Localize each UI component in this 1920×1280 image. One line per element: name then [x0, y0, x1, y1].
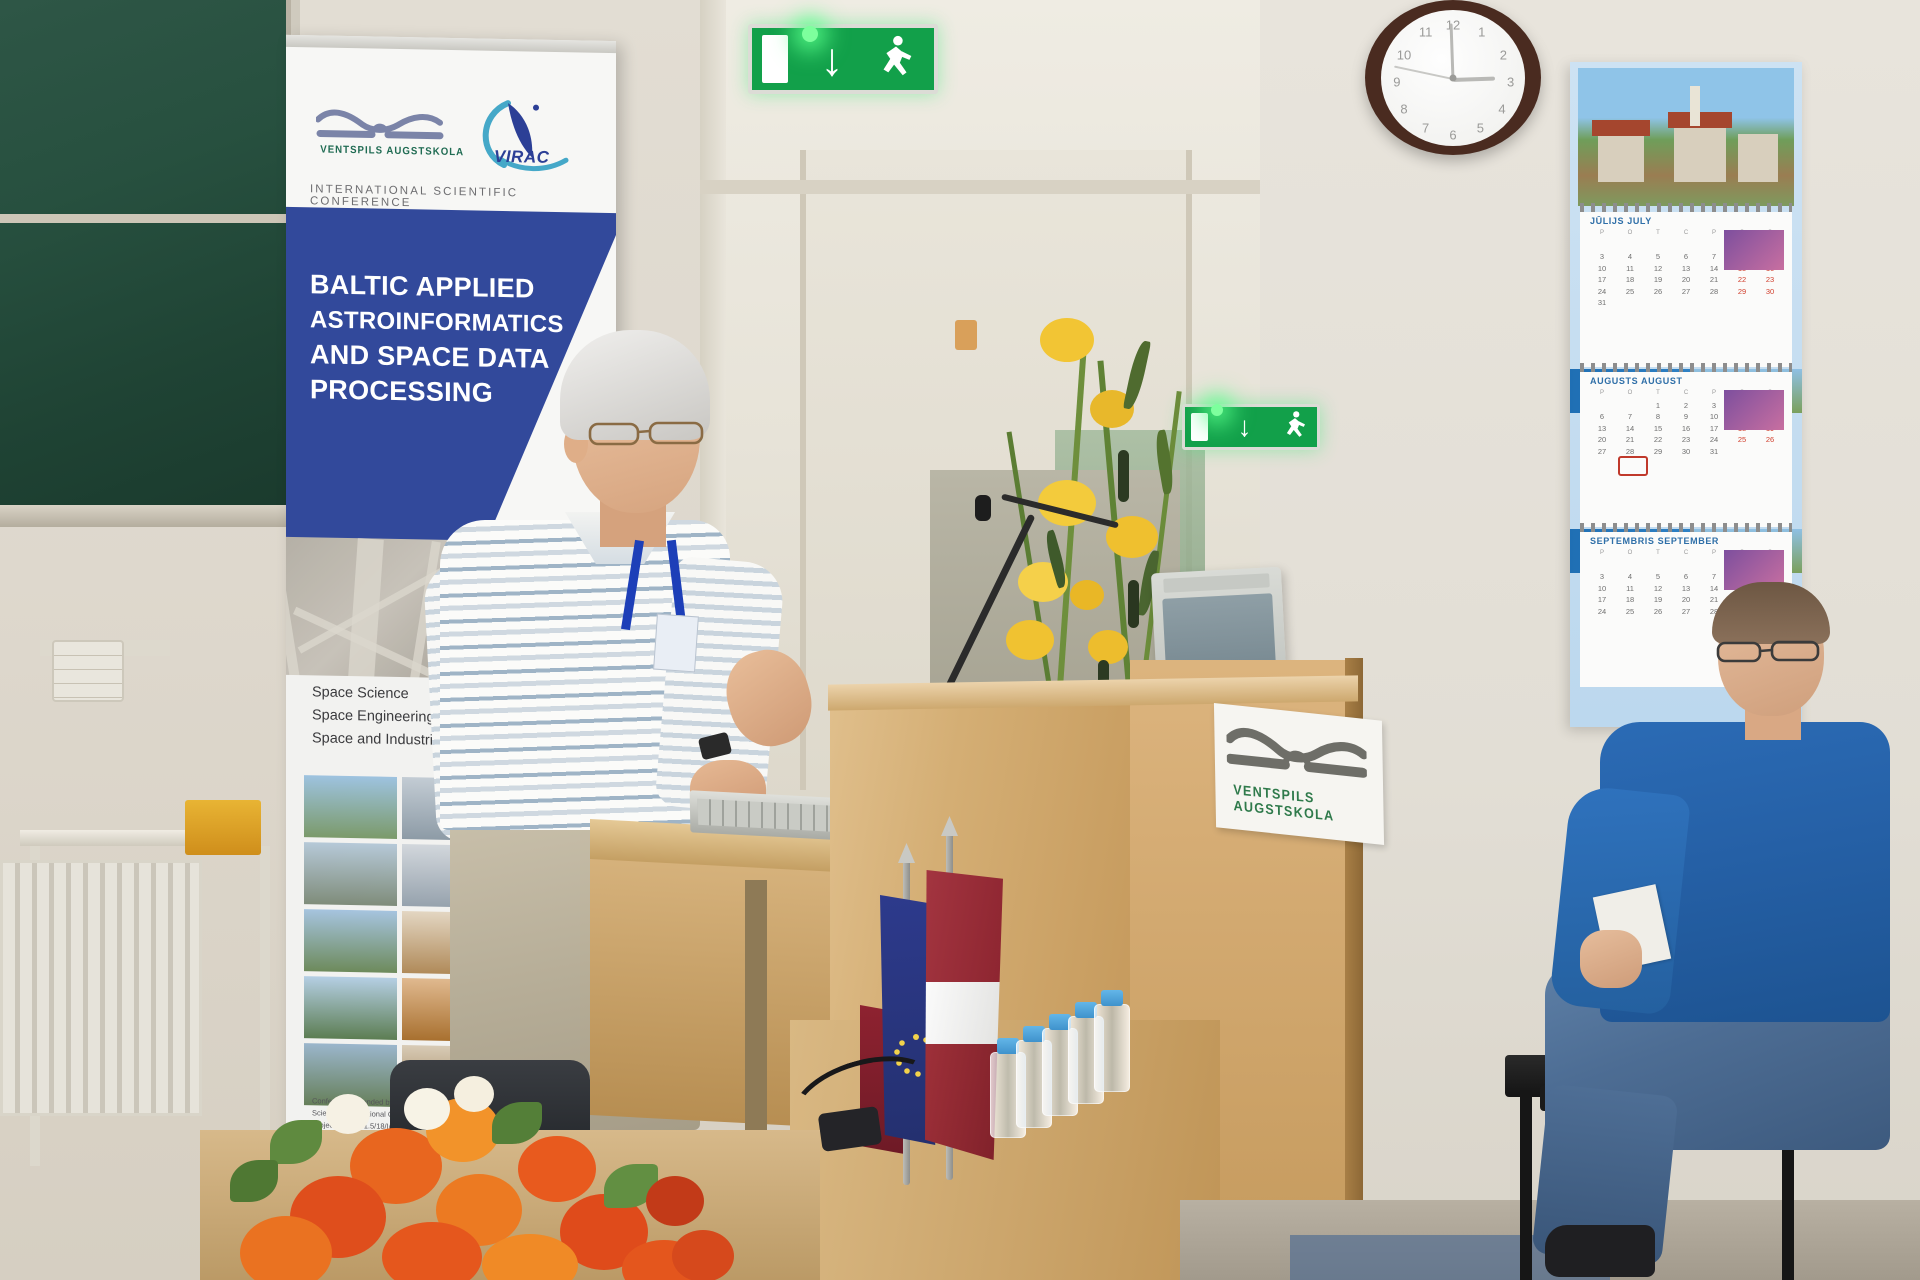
calendar-day: 17	[1588, 594, 1616, 606]
calendar-day: 2	[1672, 400, 1700, 412]
calendar-day: 19	[1644, 274, 1672, 286]
calendar-day: 5	[1644, 571, 1672, 583]
attendee-shoe	[1545, 1225, 1655, 1277]
clock-numeral: 9	[1393, 75, 1400, 90]
calendar-day: 22	[1644, 434, 1672, 446]
calendar-weekday-header: O	[1616, 388, 1644, 400]
calendar-month-title: AUGUSTS AUGUST	[1580, 372, 1792, 388]
calendar-day: 4	[1616, 571, 1644, 583]
calendar-day: 11	[1616, 263, 1644, 275]
attendee-hand	[1580, 930, 1642, 988]
clock-numeral: 1	[1478, 24, 1485, 39]
clock-numeral: 5	[1477, 121, 1484, 136]
calendar-weekday-header: P	[1588, 388, 1616, 400]
banner-logo-row: VENTSPILS AUGSTSKOLA VIRAC	[286, 87, 616, 177]
calendar-weekday-header: P	[1588, 548, 1616, 560]
calendar-weekday-header: O	[1616, 228, 1644, 240]
calendar-day: 6	[1672, 571, 1700, 583]
calendar-spiral	[1580, 363, 1792, 372]
calendar-month-page: JŪLIJS JULYPOTCPSS1234567891011121314151…	[1580, 212, 1792, 367]
calendar-month-title: JŪLIJS JULY	[1580, 212, 1792, 228]
clock-numeral: 7	[1422, 121, 1429, 136]
calendar-weekday-header: T	[1644, 388, 1672, 400]
calendar-day: 10	[1588, 263, 1616, 275]
calendar-weekday-header: T	[1644, 548, 1672, 560]
calendar-weekday-header: C	[1672, 548, 1700, 560]
banner-photo	[304, 842, 397, 906]
clock-numeral: 4	[1498, 102, 1505, 117]
calendar-day-empty	[1672, 297, 1700, 309]
calendar-spiral	[1580, 523, 1792, 532]
calendar-weekday-header: P	[1588, 228, 1616, 240]
calendar-day: 31	[1588, 297, 1616, 309]
door-header	[700, 180, 1260, 194]
calendar-day: 3	[1588, 251, 1616, 263]
blackboard	[0, 0, 291, 520]
calendar-day-empty	[1644, 560, 1672, 572]
blackboard-divider	[0, 214, 290, 223]
microphone-head[interactable]	[975, 495, 991, 521]
calendar-day: 29	[1728, 286, 1756, 298]
calendar-day: 6	[1672, 251, 1700, 263]
calendar-day-empty	[1616, 560, 1644, 572]
banner-partner-name: VIRAC	[494, 147, 549, 168]
calendar-month-thumbnail	[1724, 230, 1784, 270]
calendar-day: 12	[1644, 263, 1672, 275]
calendar-day: 30	[1756, 286, 1784, 298]
calendar-header-photo	[1578, 68, 1794, 206]
calendar-day: 24	[1700, 434, 1728, 446]
calendar-day: 20	[1672, 274, 1700, 286]
banner-photo	[304, 775, 397, 839]
water-bottle[interactable]	[1094, 1004, 1130, 1092]
calendar-weekday-header: O	[1616, 548, 1644, 560]
calendar-day: 20	[1588, 434, 1616, 446]
calendar-day-empty	[1756, 446, 1784, 458]
clock-face: 12 1 2 3 4 5 6 7 8 9 10 11	[1381, 10, 1525, 146]
calendar-day: 4	[1616, 251, 1644, 263]
calendar-day: 12	[1644, 583, 1672, 595]
calendar-day: 24	[1588, 606, 1616, 618]
calendar-day: 27	[1672, 606, 1700, 618]
calendar-day: 30	[1672, 446, 1700, 458]
clock-numeral: 12	[1446, 17, 1460, 32]
calendar-day-empty	[1588, 240, 1616, 252]
calendar-marked-date	[1618, 456, 1648, 476]
podium-institution-sign: VENTSPILS AUGSTSKOLA	[1214, 703, 1384, 845]
calendar-day-empty	[1700, 297, 1728, 309]
calendar-day: 24	[1588, 286, 1616, 298]
calendar-day: 25	[1616, 606, 1644, 618]
attendee-glasses-icon	[1716, 640, 1824, 664]
calendar-day-empty	[1616, 240, 1644, 252]
calendar-day: 11	[1616, 583, 1644, 595]
banner-service-item: Space and Industrial	[312, 727, 444, 753]
banner-title-line: ASTROINFORMATICS	[310, 302, 560, 342]
conference-room-photo: ↓ ↓ 12 1 2 3 4 5	[0, 0, 1920, 1280]
exit-sign-upper: ↓	[748, 24, 938, 94]
calendar-day-empty	[1756, 297, 1784, 309]
door-sensor	[955, 320, 977, 350]
calendar-day-empty	[1672, 240, 1700, 252]
banner-title-line: BALTIC APPLIED	[310, 267, 560, 307]
calendar-day: 10	[1588, 583, 1616, 595]
calendar-day: 25	[1728, 434, 1756, 446]
clock-numeral: 11	[1419, 24, 1433, 39]
calendar-day: 20	[1672, 594, 1700, 606]
yellow-box	[185, 800, 261, 855]
calendar-day: 18	[1616, 594, 1644, 606]
banner-organizer-name: VENTSPILS AUGSTSKOLA	[320, 143, 464, 158]
down-arrow-icon: ↓	[788, 36, 876, 82]
running-man-icon-2	[1281, 410, 1309, 445]
calendar-day: 18	[1616, 274, 1644, 286]
calendar-day: 27	[1588, 446, 1616, 458]
calendar-day: 29	[1644, 446, 1672, 458]
calendar-day-empty	[1672, 560, 1700, 572]
water-bottle-row	[990, 1000, 1130, 1140]
banner-services-list: Space Science Space Engineering Space an…	[312, 681, 444, 753]
clock-center-pin	[1450, 75, 1457, 82]
calendar-day: 5	[1644, 251, 1672, 263]
calendar-day: 7	[1616, 411, 1644, 423]
calendar-month-title: SEPTEMBRIS SEPTEMBER	[1580, 532, 1792, 548]
calendar-weekday-header: T	[1644, 228, 1672, 240]
calendar-day: 16	[1672, 423, 1700, 435]
calendar-day: 26	[1644, 286, 1672, 298]
calendar-day: 27	[1672, 286, 1700, 298]
door-icon	[762, 35, 788, 83]
calendar-weekday-header: C	[1672, 228, 1700, 240]
calendar-day-empty	[1728, 446, 1756, 458]
calendar-day: 14	[1616, 423, 1644, 435]
calendar-month-thumbnail	[1724, 390, 1784, 430]
blackboard-chalk-ledge	[0, 505, 292, 527]
running-man-icon	[876, 34, 922, 85]
calendar-day: 15	[1644, 423, 1672, 435]
bottle-cap	[1101, 990, 1123, 1006]
calendar-day-empty	[1588, 560, 1616, 572]
calendar-day: 25	[1616, 286, 1644, 298]
calendar-day: 21	[1700, 274, 1728, 286]
calendar-day: 23	[1672, 434, 1700, 446]
calendar-day: 9	[1672, 411, 1700, 423]
calendar-day: 26	[1756, 434, 1784, 446]
banner-service-item: Space Science	[312, 681, 444, 707]
calendar-weekday-header: C	[1672, 388, 1700, 400]
monitor-top-bezel	[1163, 573, 1270, 593]
calendar-day: 6	[1588, 411, 1616, 423]
chair-leg	[1520, 1090, 1532, 1280]
clock-numeral: 8	[1400, 102, 1407, 117]
calendar-day: 26	[1644, 606, 1672, 618]
calendar-day: 1	[1644, 400, 1672, 412]
clock-hour-hand	[1453, 77, 1495, 82]
calendar-month-page: AUGUSTS AUGUSTPOTCPSS1234567891011121314…	[1580, 372, 1792, 527]
calendar-day-empty	[1644, 240, 1672, 252]
wall-socket-panel	[52, 640, 124, 702]
banner-title-line: PROCESSING	[310, 372, 560, 412]
calendar-spiral	[1580, 203, 1792, 212]
calendar-day: 21	[1616, 434, 1644, 446]
calendar-day-empty	[1588, 400, 1616, 412]
clock-second-hand	[1394, 66, 1453, 80]
banner-title-line: AND SPACE DATA	[310, 337, 560, 377]
calendar-day-empty	[1728, 297, 1756, 309]
calendar-day: 31	[1700, 446, 1728, 458]
calendar-day: 22	[1728, 274, 1756, 286]
calendar-day-empty	[1616, 297, 1644, 309]
calendar-day: 19	[1644, 594, 1672, 606]
calendar-day: 13	[1588, 423, 1616, 435]
banner-service-item: Space Engineering	[312, 704, 444, 730]
calendar-day: 23	[1756, 274, 1784, 286]
wall-clock: 12 1 2 3 4 5 6 7 8 9 10 11	[1365, 0, 1541, 155]
calendar-day: 13	[1672, 583, 1700, 595]
calendar-day-empty	[1616, 400, 1644, 412]
calendar-day: 8	[1644, 411, 1672, 423]
radiator	[0, 860, 202, 1116]
exit-sign-led	[802, 26, 818, 42]
speaker-glasses-icon	[588, 420, 710, 448]
foreground-bouquet	[230, 1090, 850, 1280]
speaker-conference-badge	[653, 614, 699, 673]
clock-numeral: 10	[1397, 47, 1411, 62]
clock-numeral: 6	[1449, 128, 1456, 143]
calendar-day: 17	[1588, 274, 1616, 286]
book-wave-logo-icon	[1226, 718, 1367, 791]
clock-numeral: 3	[1507, 75, 1514, 90]
banner-photo	[304, 909, 397, 973]
calendar-day: 28	[1700, 286, 1728, 298]
calendar-day: 3	[1588, 571, 1616, 583]
clock-numeral: 2	[1500, 47, 1507, 62]
calendar-day: 13	[1672, 263, 1700, 275]
banner-title: BALTIC APPLIED ASTROINFORMATICS AND SPAC…	[310, 267, 560, 412]
banner-photo	[304, 976, 397, 1040]
calendar-day-empty	[1644, 297, 1672, 309]
